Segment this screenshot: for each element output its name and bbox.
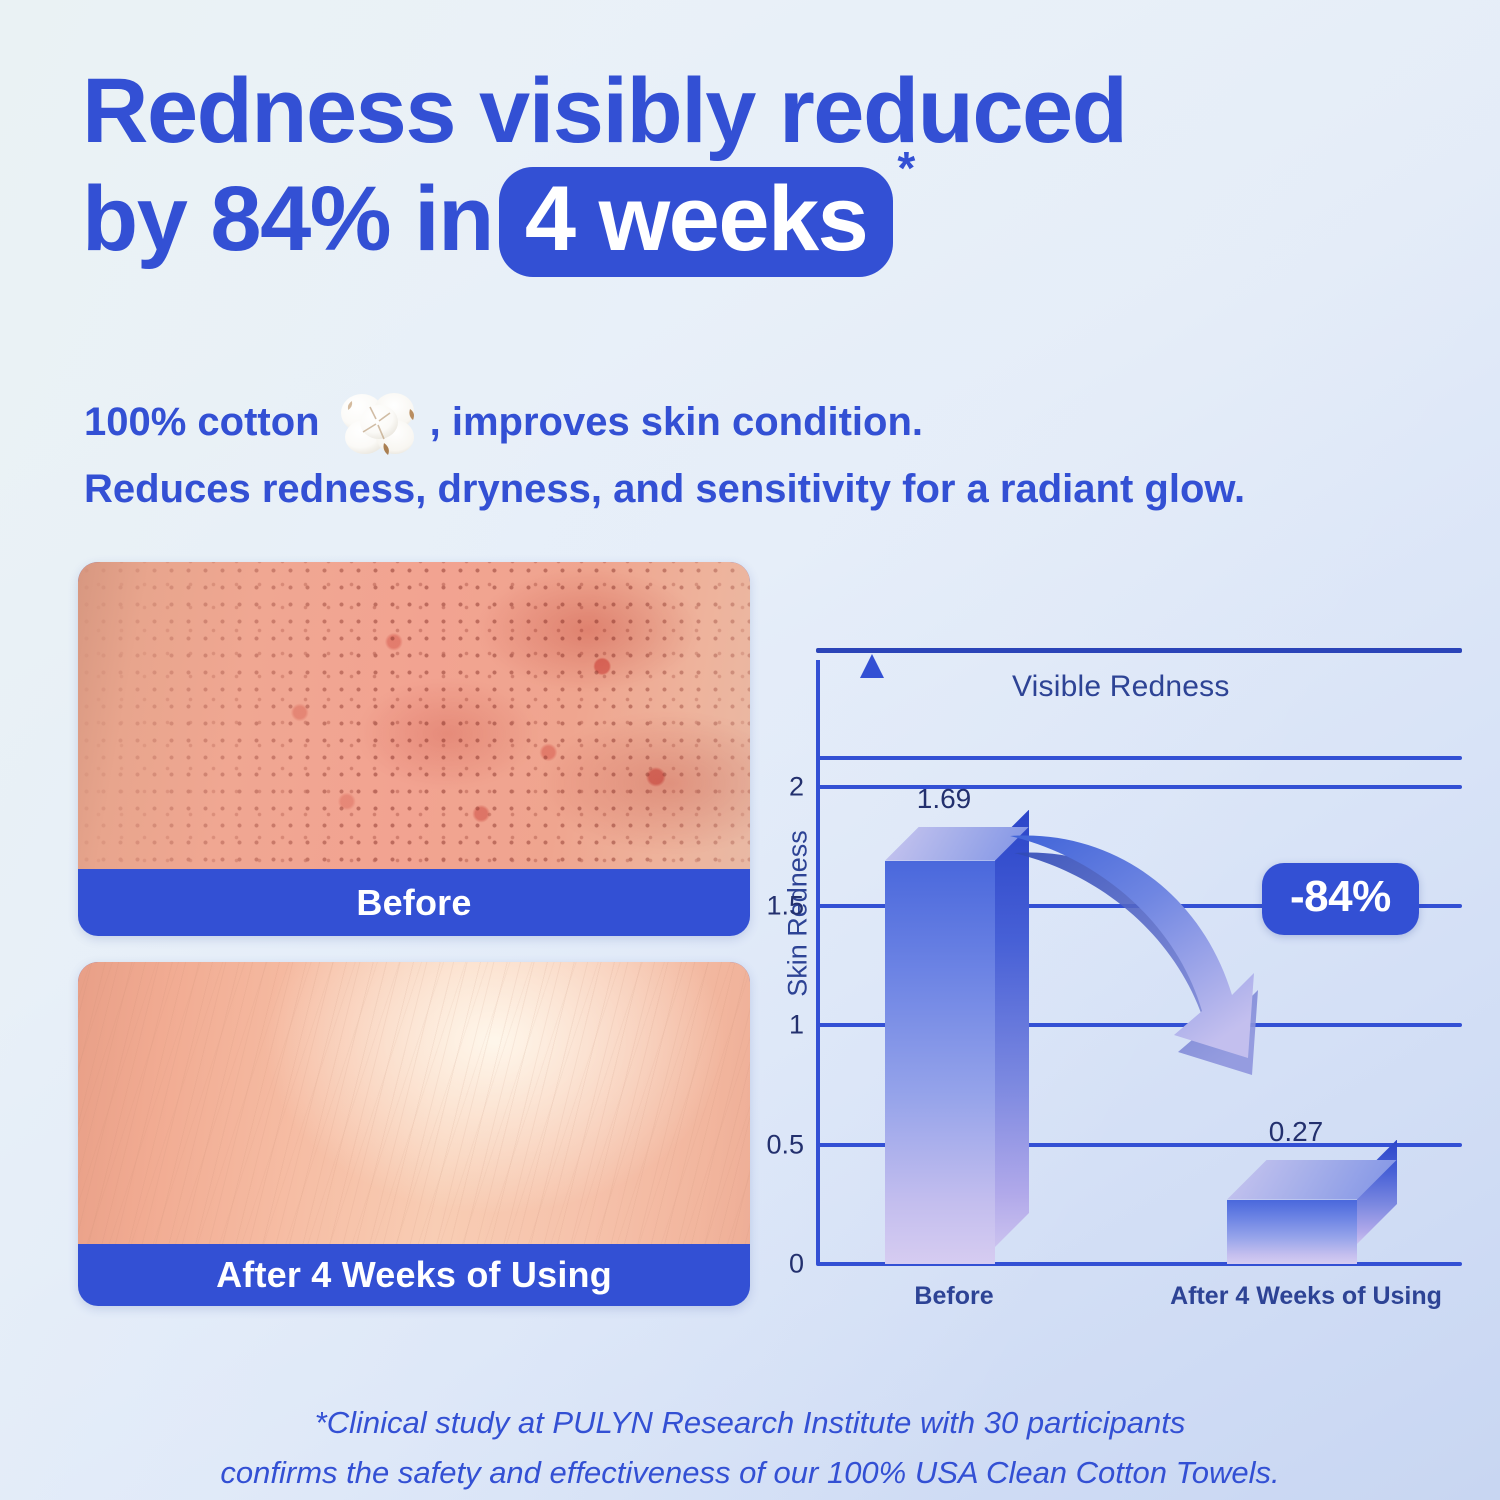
bar-value-label: 0.27 (1269, 1116, 1324, 1148)
bar-side-face (995, 810, 1029, 1247)
after-skin-photo (78, 962, 750, 1244)
y-tick-label: 0 (789, 1249, 804, 1280)
chart-title: Visible Redness (1012, 670, 1230, 704)
subhead-condition-text: , improves skin condition. (430, 392, 923, 453)
bar-front-face (1227, 1200, 1357, 1264)
before-skin-redness-blotches (78, 562, 750, 869)
footnote-line-2: confirms the safety and effectiveness of… (0, 1448, 1500, 1498)
before-skin-photo (78, 562, 750, 869)
after-skin-fine-lines (78, 962, 750, 1244)
reduction-badge: -84% (1262, 863, 1419, 935)
page-headline: Redness visibly reduced by 84% in4 weeks… (82, 58, 1442, 277)
bar-front-face (885, 861, 995, 1264)
cotton-boll-icon (332, 385, 428, 459)
x-tick-label: After 4 Weeks of Using (1170, 1282, 1442, 1311)
headline-line-1: Redness visibly reduced (82, 58, 1442, 166)
chart-x-axis (816, 648, 1462, 653)
before-card-label: Before (78, 869, 750, 936)
y-tick-label: 1 (789, 1010, 804, 1041)
subhead-line-2: Reduces redness, dryness, and sensitivit… (84, 459, 1424, 520)
before-photo-card: Before (78, 562, 750, 936)
y-axis-arrow-icon (860, 654, 884, 678)
chart-y-axis (816, 660, 820, 1264)
after-photo-card: After 4 Weeks of Using (78, 962, 750, 1306)
subhead-cotton-text: 100% cotton (84, 392, 320, 453)
footnote: *Clinical study at PULYN Research Instit… (0, 1398, 1500, 1498)
headline-line-2-prefix: by 84% in (82, 168, 493, 270)
y-tick-label: 1.5 (766, 890, 804, 921)
y-tick-label: 0.5 (766, 1129, 804, 1160)
bar-value-label: 1.69 (917, 783, 972, 815)
subhead: 100% cotton (84, 385, 1424, 520)
subhead-line-1: 100% cotton (84, 385, 1424, 459)
after-card-label: After 4 Weeks of Using (78, 1244, 750, 1306)
x-tick-label: Before (914, 1282, 993, 1311)
headline-weeks-pill: 4 weeks (499, 167, 893, 278)
headline-line-2: by 84% in4 weeks* (82, 166, 1442, 278)
gridline (816, 785, 1462, 789)
bar (1227, 1160, 1397, 1264)
gridline-top (816, 756, 1462, 760)
redness-bar-chart: Visible Redness Skin Redness 00.511.52 1… (762, 648, 1462, 1308)
y-tick-label: 2 (789, 771, 804, 802)
headline-asterisk: * (897, 142, 913, 194)
bar (885, 827, 1029, 1264)
footnote-line-1: *Clinical study at PULYN Research Instit… (0, 1398, 1500, 1448)
